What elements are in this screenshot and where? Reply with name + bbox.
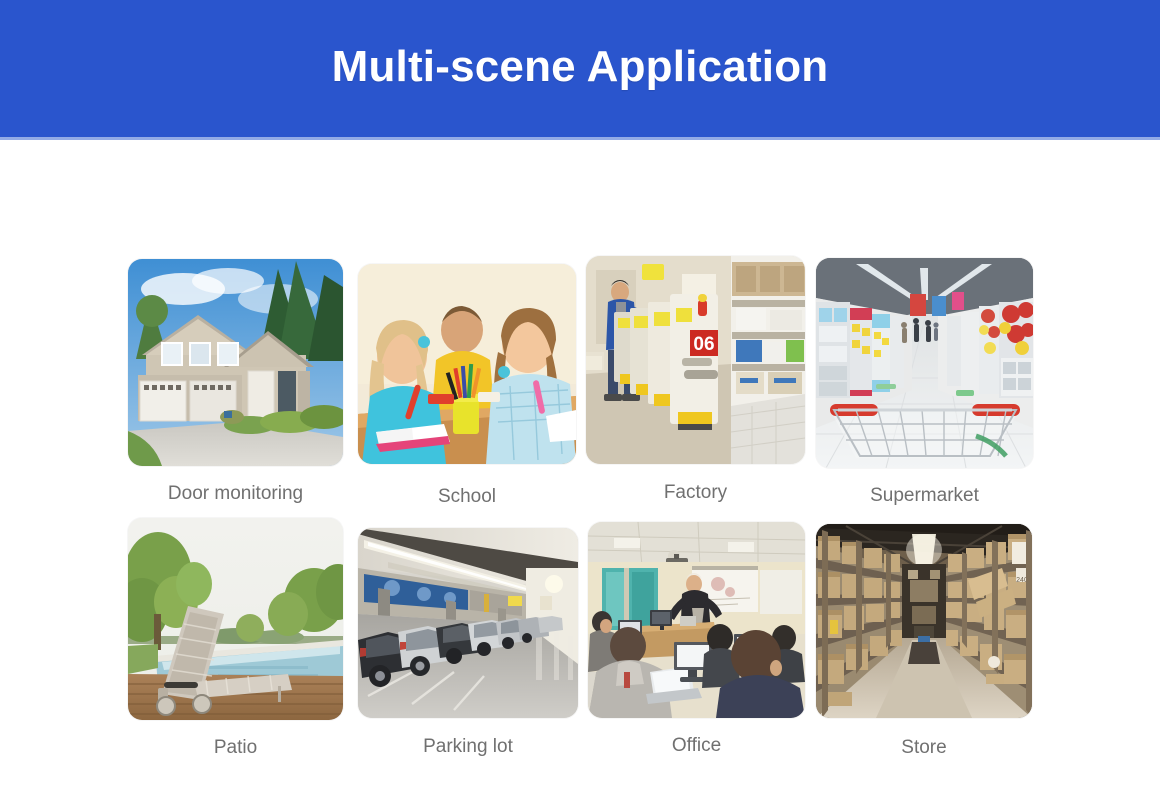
- scene-thumbnail-store[interactable]: 240: [816, 524, 1032, 718]
- scene-caption-office: Office: [588, 735, 805, 757]
- scene-card-school[interactable]: School: [358, 264, 576, 464]
- scene-caption-patio: Patio: [128, 737, 343, 759]
- factory-worker-machines-image: 06: [586, 256, 805, 464]
- scene-card-factory[interactable]: 06 Factory: [586, 256, 805, 464]
- scene-thumbnail-parking-lot[interactable]: [358, 528, 578, 718]
- scene-thumbnail-office[interactable]: [588, 522, 805, 718]
- scene-caption-school: School: [358, 486, 576, 508]
- scene-card-store[interactable]: 240: [816, 524, 1032, 718]
- scene-caption-factory: Factory: [586, 482, 805, 504]
- scene-caption-door-monitoring: Door monitoring: [128, 483, 343, 505]
- scene-thumbnail-school[interactable]: [358, 264, 576, 464]
- gallery-row-1: Door monitoring: [0, 193, 1160, 513]
- scene-thumbnail-factory[interactable]: 06: [586, 256, 805, 464]
- scene-card-parking-lot[interactable]: Parking lot: [358, 528, 578, 718]
- patio-lounger-pool-image: [128, 518, 343, 720]
- scene-caption-store: Store: [816, 737, 1032, 759]
- svg-text:06: 06: [693, 334, 714, 355]
- scene-caption-supermarket: Supermarket: [816, 485, 1033, 507]
- slide-multi-scene-application: Multi-scene Application: [0, 0, 1160, 791]
- children-writing-at-desk-image: [358, 264, 576, 464]
- warehouse-storage-aisle-image: 240: [816, 524, 1032, 718]
- scene-thumbnail-door-monitoring[interactable]: [128, 259, 343, 466]
- page-title: Multi-scene Application: [332, 45, 829, 89]
- suburban-house-exterior-image: [128, 259, 343, 466]
- slide-header-banner: Multi-scene Application: [0, 0, 1160, 137]
- scene-card-supermarket[interactable]: Supermarket: [816, 258, 1033, 468]
- office-meeting-projector-image: [588, 522, 805, 718]
- scene-thumbnail-patio[interactable]: [128, 518, 343, 720]
- gallery-row-2: Patio: [0, 509, 1160, 791]
- supermarket-aisle-cart-image: [816, 258, 1033, 468]
- scene-card-office[interactable]: Office: [588, 522, 805, 718]
- scene-card-door-monitoring[interactable]: Door monitoring: [128, 259, 343, 466]
- scene-gallery: Door monitoring: [0, 137, 1160, 791]
- scene-card-patio[interactable]: Patio: [128, 518, 343, 720]
- scene-thumbnail-supermarket[interactable]: [816, 258, 1033, 468]
- scene-caption-parking-lot: Parking lot: [358, 736, 578, 758]
- indoor-parking-garage-image: [358, 528, 578, 718]
